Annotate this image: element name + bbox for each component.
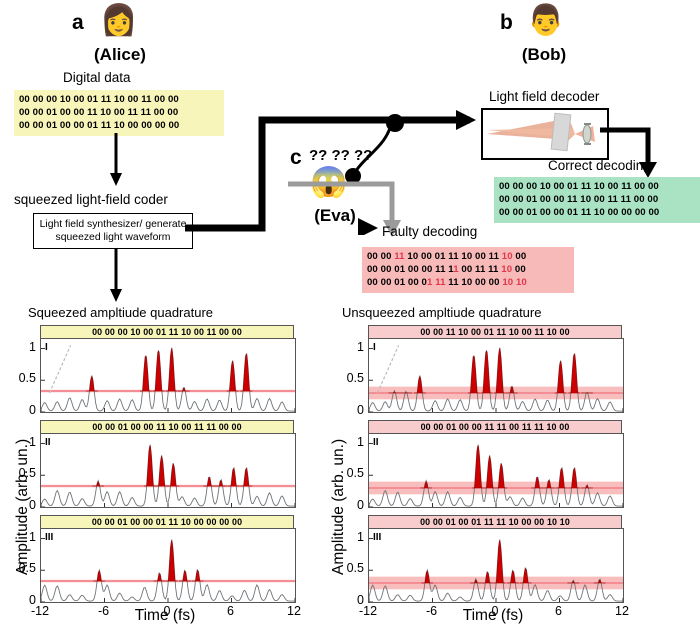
signal-peak (494, 540, 506, 583)
waveform-plot (40, 528, 296, 603)
woman-face-icon: 👩 (100, 6, 137, 36)
faulty-bit-ok: 00 00 (367, 251, 394, 262)
signal-peak (179, 571, 191, 581)
waveform-trace (41, 348, 295, 411)
waveform-plot (368, 338, 624, 413)
guide-dotted-line (49, 345, 70, 393)
signal-peak (203, 477, 215, 486)
waveform-trace (369, 540, 623, 602)
decoder-optics-diagram (483, 110, 603, 154)
correct-decoding-label: Correct decoding (548, 158, 651, 174)
chart-right-title: Unsqueezed ampltiude quadrature (342, 305, 541, 320)
y-tick-label: 1 (338, 435, 364, 449)
light-field-decoder-box (481, 108, 609, 160)
faulty-decoding-label: Faulty decoding (382, 224, 477, 240)
guide-dotted-line (377, 345, 398, 393)
light-field-synthesizer-box: Light field synthesizer/ generate squeez… (33, 213, 193, 249)
correct-decoding-row: 00 00 00 10 00 01 11 10 00 11 00 00 (499, 180, 699, 193)
subpanel-bits-label: 00 00 01 00 01 11 11 10 00 00 10 10 (368, 515, 622, 528)
signal-peak (472, 445, 484, 488)
signal-peak (86, 376, 98, 391)
subpanel-bits-label: 00 00 01 00 00 01 11 10 00 00 00 00 (40, 515, 294, 528)
coder-box-line2: squeezed light waveform (39, 231, 187, 244)
x-tick-label: 12 (607, 604, 637, 618)
signal-peak (144, 445, 156, 486)
signal-peak (156, 456, 168, 486)
x-tick-label: 6 (544, 604, 574, 618)
faulty-bit-ok: 00 11 11 (459, 264, 502, 275)
faulty-bit-ok: 10 00 01 11 10 00 11 (405, 251, 502, 262)
subpanel-bits-label: 00 00 01 00 00 11 10 00 11 11 00 00 (40, 420, 294, 433)
bob-name-label: (Bob) (498, 46, 590, 63)
subpanel-bits-label: 00 00 11 10 00 01 11 10 00 11 10 00 (368, 325, 622, 338)
faulty-bit-ok: 00 00 01 00 00 11 1 (367, 264, 453, 275)
subpanel-I: 00 00 11 10 00 01 11 10 00 11 10 00I00.5… (368, 325, 624, 413)
y-tick-label: 0.5 (10, 466, 36, 480)
waveform-trace (369, 348, 623, 411)
subpanel-II: 00 00 01 00 00 11 11 00 11 11 10 00II00.… (368, 420, 624, 508)
faulty-bit-ok: 00 00 01 00 0 (367, 277, 427, 288)
signal-peak (227, 361, 239, 391)
coder-box-line1: Light field synthesizer/ generate (39, 218, 187, 231)
y-tick-label: 1 (338, 530, 364, 544)
signal-peak (140, 356, 152, 392)
x-tick-label: -12 (25, 604, 55, 618)
x-tick-label: -6 (89, 604, 119, 618)
waveform-plot (368, 528, 624, 603)
waveform-trace (369, 445, 623, 506)
subpanel-bits-label: 00 00 00 10 00 01 11 10 00 11 00 00 (40, 325, 294, 338)
signal-peak (153, 350, 165, 391)
signal-peak (166, 540, 178, 581)
y-tick-label: 0.5 (338, 371, 364, 385)
faulty-decoding-row: 00 00 11 10 00 01 11 10 00 11 10 00 (367, 250, 569, 263)
faulty-bit-ok: 00 (512, 264, 526, 275)
y-tick-label: 0 (10, 403, 36, 417)
y-tick-label: 1 (338, 340, 364, 354)
faulty-bit-error: 11 (435, 277, 445, 288)
signal-peak (240, 354, 252, 391)
arrow-data-to-coder (106, 133, 126, 188)
subpanel-bits-label: 00 00 01 00 00 11 11 00 11 11 10 00 (368, 420, 622, 433)
faulty-decoding-row: 00 00 01 00 00 11 11 00 11 11 10 00 (367, 263, 569, 276)
faulty-decoding-box: 00 00 11 10 00 01 11 10 00 11 10 00 00 0… (362, 247, 574, 293)
signal-peak (228, 468, 240, 486)
subpanel-II: 00 00 01 00 00 11 10 00 11 11 00 00II00.… (40, 420, 296, 508)
signal-peak (240, 468, 252, 486)
subpanel-roman-numeral: I (373, 342, 376, 353)
faulty-bit-ok: 11 10 00 00 (446, 277, 503, 288)
x-tick-label: -6 (417, 604, 447, 618)
signal-peak (481, 350, 493, 393)
x-tick-label: 6 (216, 604, 246, 618)
x-tick-label: 12 (279, 604, 309, 618)
x-tick-label: 0 (480, 604, 510, 618)
subpanel-roman-numeral: III (373, 532, 381, 543)
waveform-trace (41, 540, 295, 602)
panel-b-letter: b (500, 12, 513, 33)
waveform-plot (40, 433, 296, 508)
signal-peak (167, 464, 179, 486)
y-tick-label: 1 (10, 435, 36, 449)
subpanel-III: 00 00 01 00 00 01 11 10 00 00 00 00III00… (40, 515, 296, 603)
panel-a-letter: a (72, 12, 84, 33)
signal-peak (494, 349, 506, 393)
x-tick-label: -12 (353, 604, 383, 618)
alice-name-label: (Alice) (72, 46, 168, 63)
faulty-decoding-row: 00 00 01 00 01 11 11 10 00 00 10 10 (367, 276, 569, 289)
faulty-bit-error: 10 (501, 264, 512, 275)
subpanel-roman-numeral: II (373, 437, 379, 448)
correct-decoding-row: 00 00 01 00 00 11 10 00 11 11 00 00 (499, 193, 699, 206)
signal-peak (93, 571, 105, 581)
waveform-plot (368, 433, 624, 508)
waveform-plot (40, 338, 296, 413)
y-tick-label: 0.5 (338, 561, 364, 575)
digital-data-label: Digital data (63, 70, 131, 86)
y-tick-label: 0 (338, 498, 364, 512)
subpanel-III: 00 00 01 00 01 11 11 10 00 00 10 10III00… (368, 515, 624, 603)
faulty-bit-error: 10 (502, 251, 513, 262)
y-tick-label: 0.5 (338, 466, 364, 480)
subpanel-I: 00 00 00 10 00 01 11 10 00 11 00 00I00.5… (40, 325, 296, 413)
faulty-bit-error: 11 (394, 251, 404, 262)
signal-peak (166, 349, 178, 392)
subpanel-roman-numeral: II (45, 437, 51, 448)
y-tick-label: 1 (10, 340, 36, 354)
y-tick-label: 0 (338, 403, 364, 417)
waveform-trace (41, 445, 295, 506)
y-tick-label: 1 (10, 530, 36, 544)
correct-decoding-row: 00 00 01 00 00 01 11 10 00 00 00 00 (499, 206, 699, 219)
decoder-label: Light field decoder (489, 89, 599, 105)
signal-peak (192, 570, 204, 581)
subpanel-roman-numeral: I (45, 342, 48, 353)
coder-label: squeezed light-field coder (14, 192, 168, 208)
y-tick-label: 0 (10, 498, 36, 512)
faulty-bit-error: 10 (502, 277, 513, 288)
faulty-bit-ok: 00 (513, 251, 527, 262)
digital-data-row: 00 00 00 10 00 01 11 10 00 11 00 00 (19, 93, 219, 106)
y-tick-label: 0.5 (10, 561, 36, 575)
panel-c-letter: c (290, 147, 302, 168)
x-tick-label: 0 (152, 604, 182, 618)
chart-left-title: Squeezed ampltiude quadrature (28, 305, 213, 320)
man-face-icon: 👨 (527, 6, 564, 36)
subpanel-roman-numeral: III (45, 532, 53, 543)
correct-decoding-box: 00 00 00 10 00 01 11 10 00 11 00 00 00 0… (494, 177, 700, 223)
y-tick-label: 0.5 (10, 371, 36, 385)
arrow-coder-down (106, 249, 126, 304)
faulty-bit-error: 10 (516, 277, 527, 288)
